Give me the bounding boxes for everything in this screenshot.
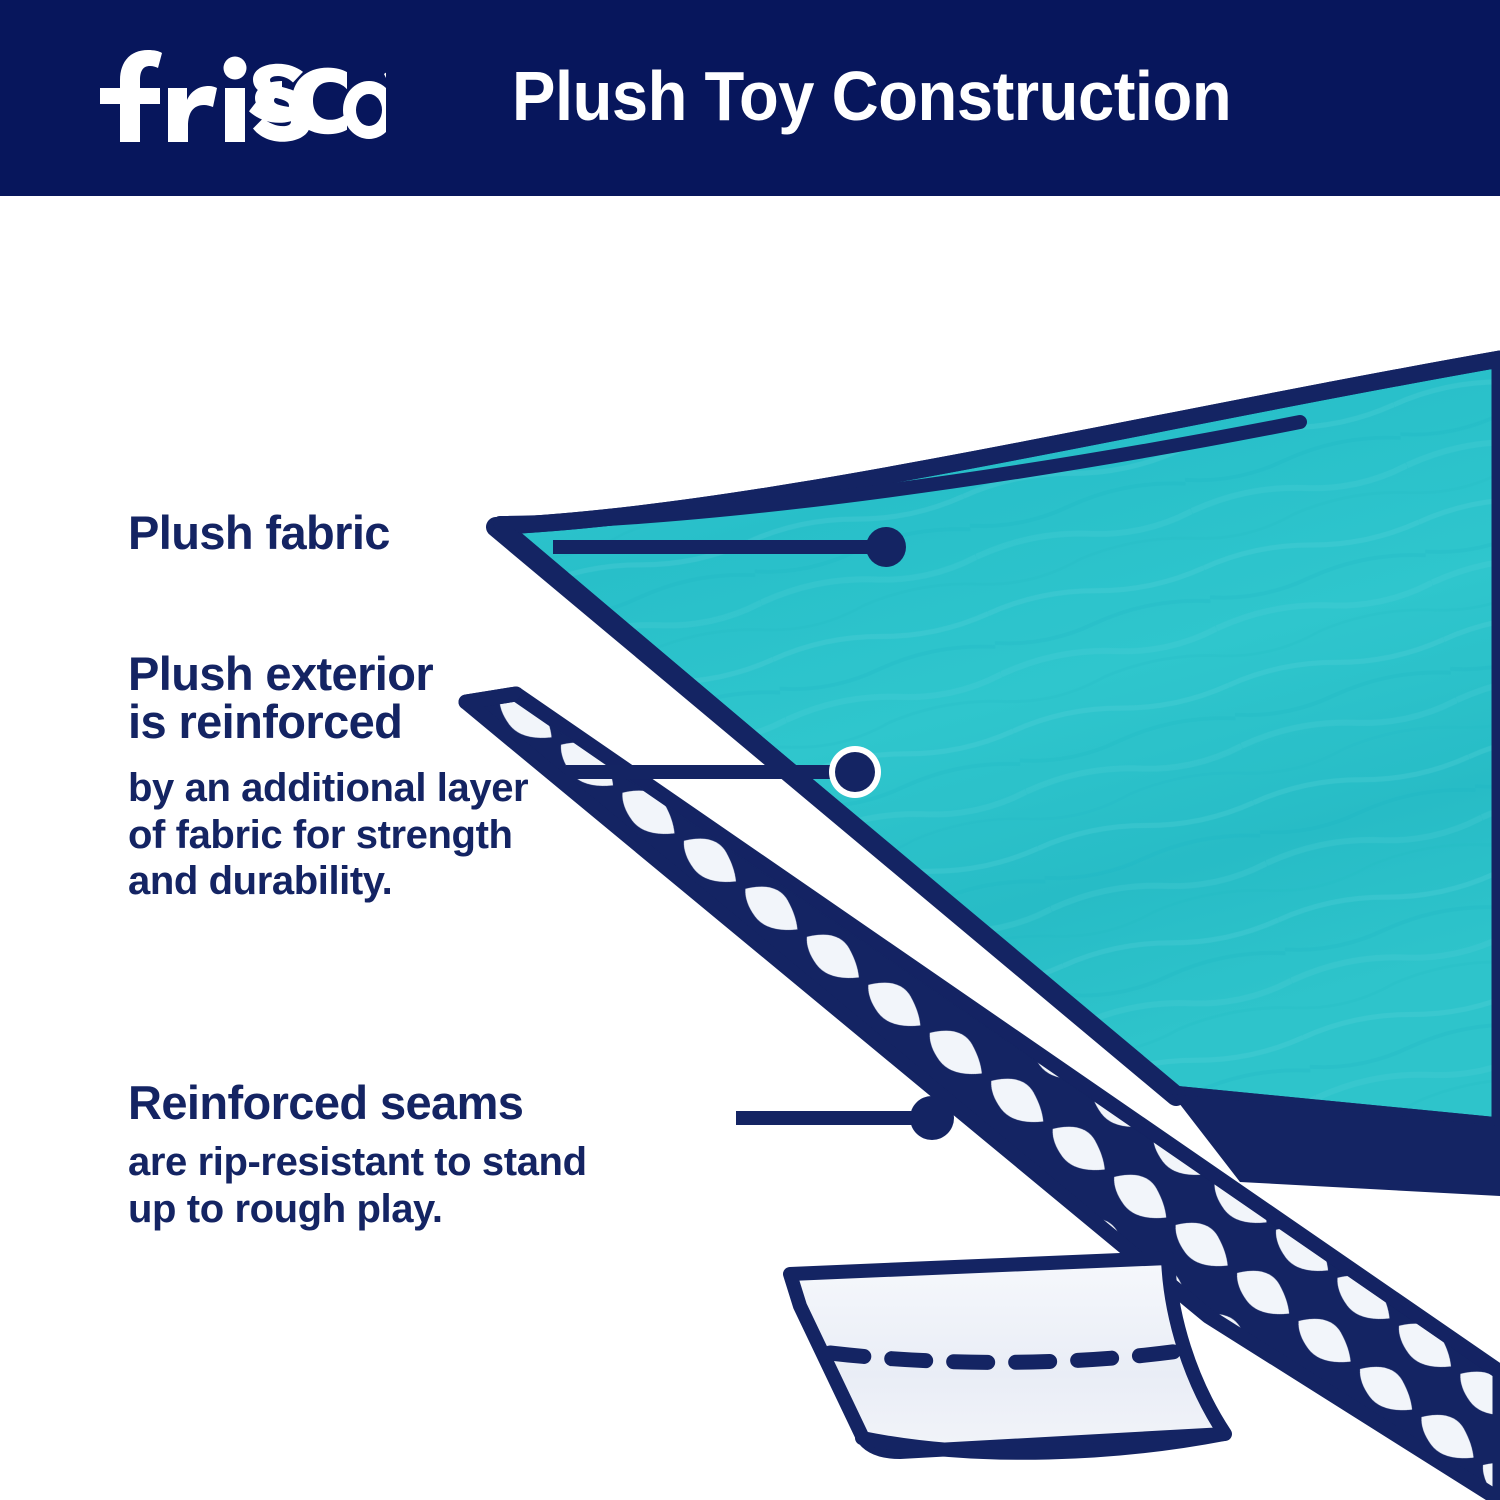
plush-panel-lower-tail bbox=[1172, 1094, 1500, 1196]
callout-heading-plush-exterior-line1: Plush exterior bbox=[128, 650, 528, 698]
leader-lines bbox=[553, 527, 954, 1140]
callout-reinforced-seams: Reinforced seams are rip-resistant to st… bbox=[128, 1079, 587, 1233]
marker-reinforced-seams bbox=[910, 1096, 954, 1140]
callout-heading-reinforced-seams: Reinforced seams bbox=[128, 1079, 587, 1127]
callout-body-line: up to rough play. bbox=[128, 1186, 587, 1233]
marker-plush-exterior bbox=[835, 752, 875, 792]
plush-fabric-fold-edge bbox=[496, 422, 1300, 1096]
page-title: Plush Toy Construction bbox=[512, 44, 1231, 148]
callout-body-line: of fabric for strength bbox=[128, 812, 528, 859]
callout-heading-plush-exterior-line2: is reinforced bbox=[128, 698, 528, 746]
dashed-stitch bbox=[830, 1348, 1200, 1362]
callout-body-line: by an additional layer bbox=[128, 765, 528, 812]
reinforced-seam-flap bbox=[790, 1258, 1225, 1453]
plush-fabric-panel bbox=[497, 359, 1500, 1141]
header-bar: R Plush Toy Construction bbox=[0, 0, 1500, 196]
marker-plush-fabric bbox=[866, 527, 906, 567]
callout-plush-exterior: Plush exterior is reinforced by an addit… bbox=[128, 650, 528, 905]
callout-body-line: are rip-resistant to stand bbox=[128, 1139, 587, 1186]
callout-plush-fabric: Plush fabric bbox=[128, 509, 390, 557]
callout-body-reinforced-seams: are rip-resistant to stand up to rough p… bbox=[128, 1139, 587, 1233]
reinforcement-mesh-band bbox=[380, 626, 1500, 1500]
callout-body-plush-exterior: by an additional layer of fabric for str… bbox=[128, 765, 528, 905]
callout-heading-plush-fabric: Plush fabric bbox=[128, 509, 390, 557]
frisco-logo: R bbox=[86, 44, 386, 148]
callout-body-line: and durability. bbox=[128, 858, 528, 905]
infographic-page: R Plush Toy Construction bbox=[0, 0, 1500, 1500]
